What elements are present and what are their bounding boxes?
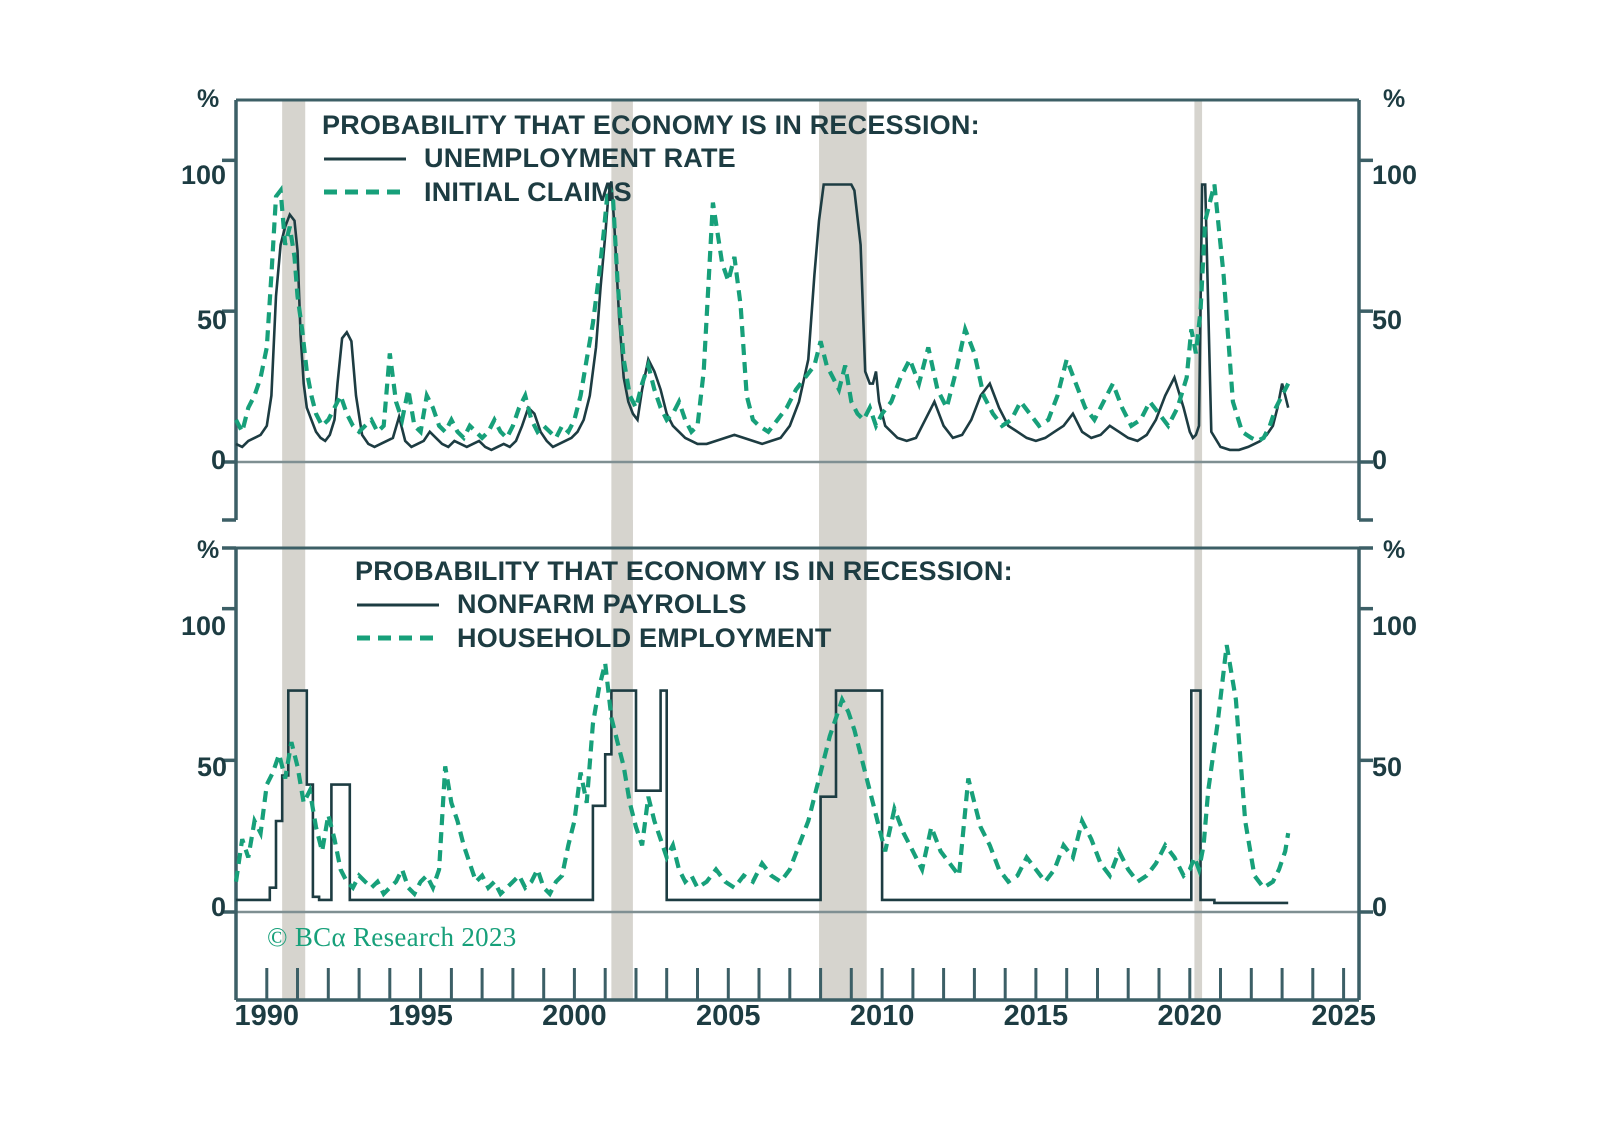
dashed-line-swatch-icon [355,629,441,647]
solid-line-swatch-icon [322,150,408,168]
bottom-left-unit-label: % [197,536,219,565]
bottom-legend-title: PROBABILITY THAT ECONOMY IS IN RECESSION… [355,556,1013,587]
top-right-ytick-100: 100 [1372,160,1417,191]
bottom-left-ytick-0: 0 [211,892,226,923]
top-legend-title: PROBABILITY THAT ECONOMY IS IN RECESSION… [322,110,980,141]
top-right-ytick-0: 0 [1372,445,1387,476]
x-tick-label-2010: 2010 [832,1000,932,1033]
chart-root: % % 100 50 0 100 50 0 PROBABILITY THAT E… [0,0,1598,1144]
bottom-left-ytick-100: 100 [181,611,226,642]
copyright-credit: © BCα Research 2023 [267,922,517,953]
top-legend-item-initial-claims: INITIAL CLAIMS [322,177,980,208]
bottom-right-ytick-50: 50 [1372,752,1402,783]
solid-line-swatch-icon [355,596,441,614]
x-tick-label-1995: 1995 [371,1000,471,1033]
x-tick-label-2005: 2005 [678,1000,778,1033]
top-left-ytick-100: 100 [181,160,226,191]
x-tick-label-2025: 2025 [1294,1000,1394,1033]
x-tick-label-2015: 2015 [986,1000,1086,1033]
top-right-unit-label: % [1383,85,1405,114]
top-panel-legend: PROBABILITY THAT ECONOMY IS IN RECESSION… [322,110,980,208]
top-legend-label-1: UNEMPLOYMENT RATE [424,143,736,174]
bottom-right-unit-label: % [1383,536,1405,565]
top-legend-item-unemployment-rate: UNEMPLOYMENT RATE [322,143,980,174]
bottom-legend-label-2: HOUSEHOLD EMPLOYMENT [457,623,832,654]
bottom-right-ytick-0: 0 [1372,892,1387,923]
top-left-unit-label: % [197,85,219,114]
x-tick-label-2000: 2000 [524,1000,624,1033]
bottom-legend-label-1: NONFARM PAYROLLS [457,589,747,620]
top-left-ytick-0: 0 [211,445,226,476]
top-right-ytick-50: 50 [1372,305,1402,336]
bottom-legend-item-household-employment: HOUSEHOLD EMPLOYMENT [355,623,1013,654]
bottom-panel-legend: PROBABILITY THAT ECONOMY IS IN RECESSION… [355,556,1013,654]
top-left-ytick-50: 50 [197,305,227,336]
dashed-line-swatch-icon [322,183,408,201]
bottom-legend-item-nonfarm-payrolls: NONFARM PAYROLLS [355,589,1013,620]
bottom-right-ytick-100: 100 [1372,611,1417,642]
top-legend-label-2: INITIAL CLAIMS [424,177,632,208]
top-panel-plot [0,0,1598,540]
x-tick-label-1990: 1990 [217,1000,317,1033]
x-tick-label-2020: 2020 [1140,1000,1240,1033]
bottom-left-ytick-50: 50 [197,752,227,783]
